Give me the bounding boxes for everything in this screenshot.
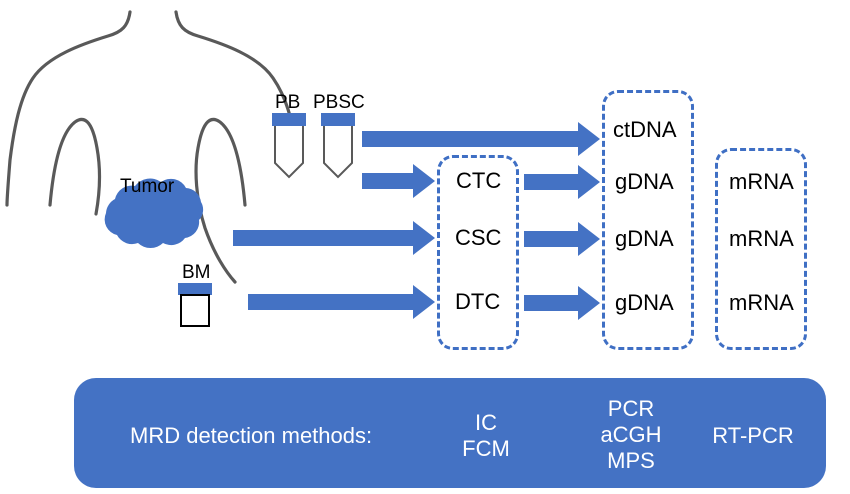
dna-type-ctdna: ctDNA: [613, 119, 677, 141]
mrd-cell-methods-line-1: IC: [466, 410, 506, 436]
dna-type-gdna-3: gDNA: [615, 292, 674, 314]
rna-type-mrna-3: mRNA: [729, 292, 794, 314]
mrd-dna-methods-line-3: MPS: [598, 448, 664, 474]
tube-pb: [272, 113, 306, 177]
mrd-dna-methods-line-2: aCGH: [594, 422, 668, 448]
mrd-cell-methods-line-2: FCM: [456, 436, 516, 462]
tube-label-pbsc: PBSC: [313, 93, 365, 112]
arrow-bm-to-dtc: [248, 285, 435, 319]
arrow-ctc-to-gdna: [524, 165, 600, 199]
mrd-methods-caption: MRD detection methods:: [130, 423, 372, 449]
cell-type-dtc: DTC: [455, 291, 500, 313]
diagram-canvas: PB PBSC BM Tumor CTC CSC DTC ctDNA gDNA …: [0, 0, 850, 494]
rna-type-mrna-2: mRNA: [729, 228, 794, 250]
arrow-csc-to-gdna: [524, 222, 600, 256]
cell-type-csc: CSC: [455, 227, 501, 249]
cell-type-ctc: CTC: [456, 170, 501, 192]
tube-label-pb: PB: [275, 93, 300, 112]
tube-pbsc: [321, 113, 355, 177]
arrow-pb-to-ctdna: [362, 122, 600, 156]
arrow-pbsc-to-ctc: [362, 164, 435, 198]
mrd-rna-methods-line-1: RT-PCR: [706, 423, 800, 449]
tumor-label: Tumor: [120, 177, 174, 196]
arrow-dtc-to-gdna: [524, 286, 600, 320]
tube-bm: [178, 283, 212, 326]
tube-label-bm: BM: [182, 263, 211, 282]
dna-type-gdna-2: gDNA: [615, 228, 674, 250]
rna-type-mrna-1: mRNA: [729, 171, 794, 193]
mrd-methods-bar: MRD detection methods: IC FCM PCR aCGH M…: [74, 378, 826, 488]
dna-type-gdna-1: gDNA: [615, 171, 674, 193]
arrow-tumor-to-csc: [233, 221, 435, 255]
mrd-dna-methods-line-1: PCR: [600, 396, 662, 422]
